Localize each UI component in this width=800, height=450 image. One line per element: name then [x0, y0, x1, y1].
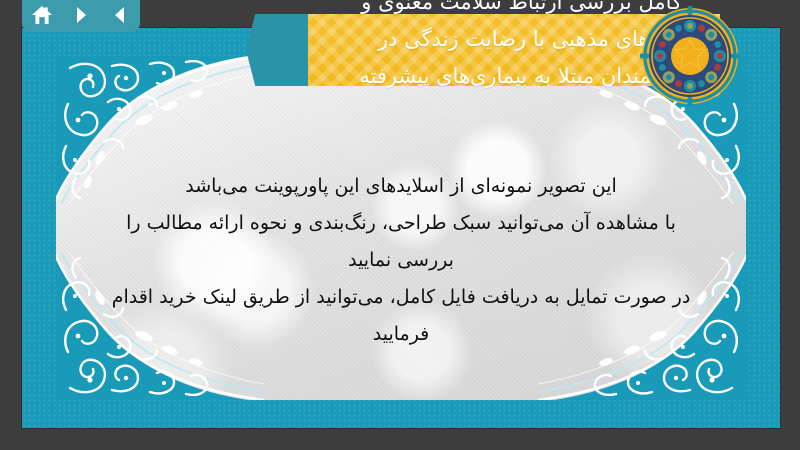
triangle-right-icon	[71, 5, 91, 25]
triangle-left-icon	[110, 5, 130, 25]
home-button[interactable]	[27, 2, 57, 28]
next-slide-button[interactable]	[66, 2, 96, 28]
previous-slide-button[interactable]	[105, 2, 135, 28]
ribbon-arrow-tip	[246, 14, 312, 86]
slide-canvas: این تصویر نمونه‌ای از اسلایدهای این پاور…	[56, 56, 746, 400]
home-icon	[31, 5, 53, 26]
slide-viewer-window: کامل بررسی ارتباط سلامت معنوی و باورهای …	[0, 0, 800, 450]
navigation-toolbar	[22, 0, 140, 32]
persian-medallion-ornament	[640, 6, 740, 106]
slide-body-text: این تصویر نمونه‌ای از اسلایدهای این پاور…	[56, 168, 746, 353]
